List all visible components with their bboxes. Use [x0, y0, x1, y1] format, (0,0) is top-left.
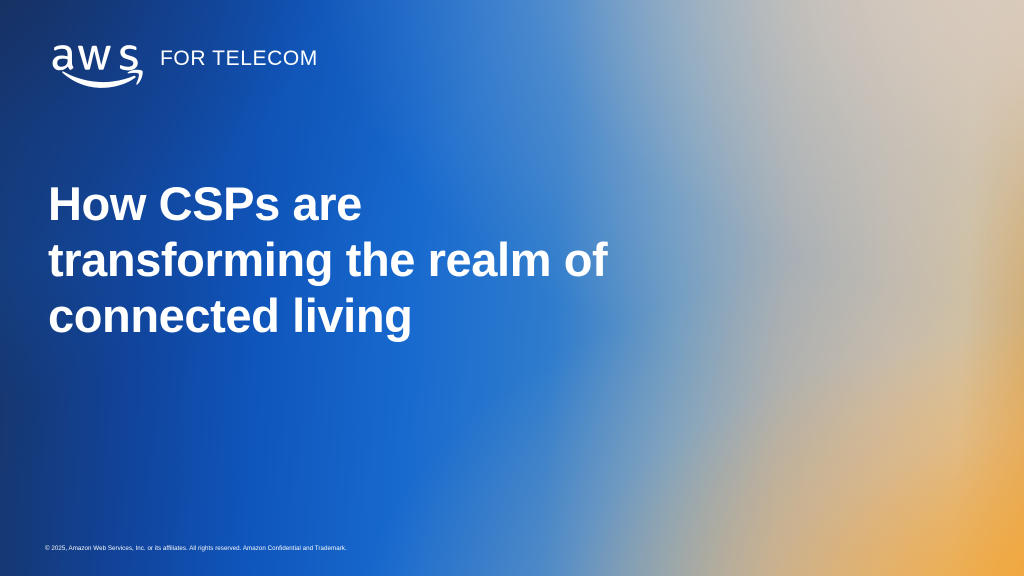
sub-brand-label: FOR TELECOM	[160, 48, 318, 69]
title-line-2: transforming the realm of	[48, 232, 748, 288]
aws-brand-lockup: FOR TELECOM	[48, 38, 318, 90]
slide-title: How CSPs are transforming the realm of c…	[48, 176, 748, 344]
title-slide: FOR TELECOM How CSPs are transforming th…	[0, 0, 1024, 576]
aws-logo	[48, 38, 144, 90]
title-line-1: How CSPs are	[48, 176, 748, 232]
title-line-3: connected living	[48, 288, 748, 344]
copyright-notice: © 2025, Amazon Web Services, Inc. or its…	[45, 545, 347, 552]
